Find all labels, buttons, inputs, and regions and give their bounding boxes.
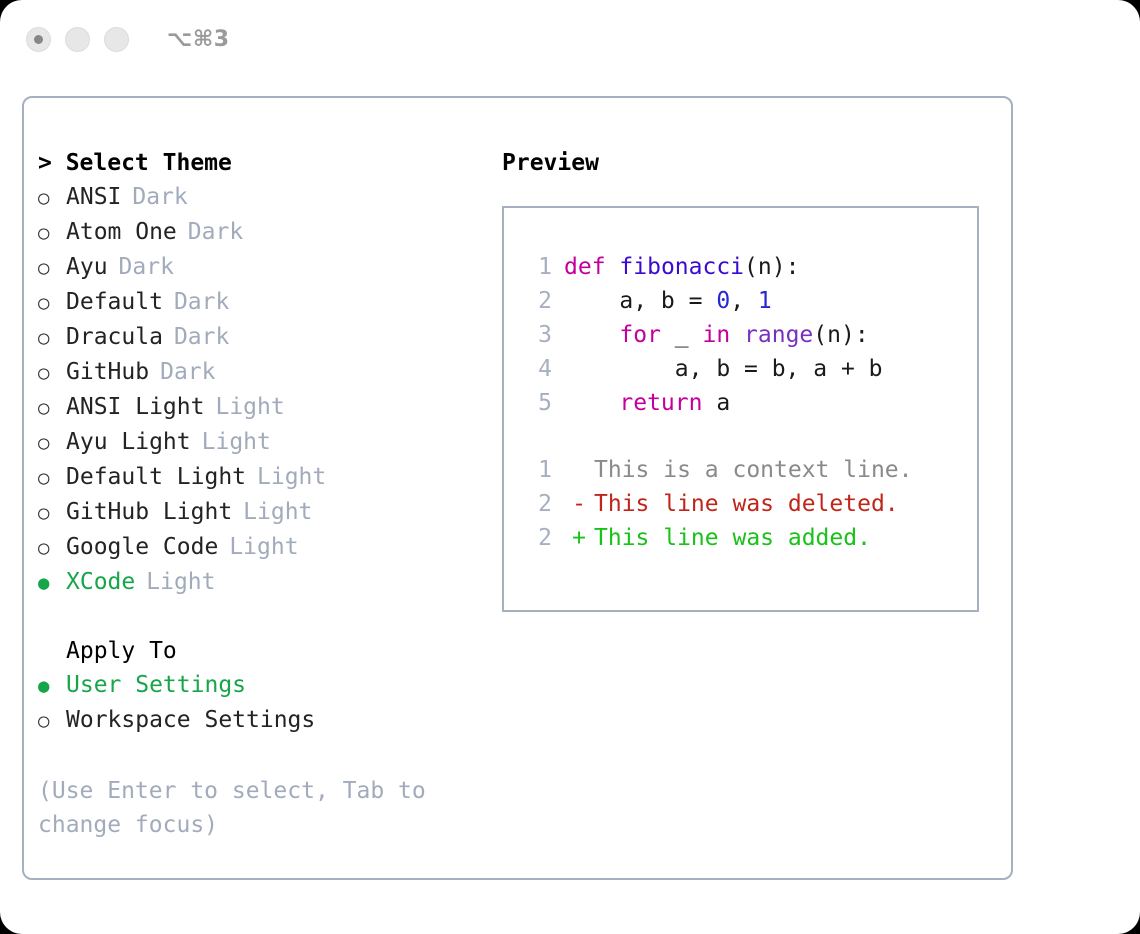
theme-selector-column: > Select Theme ○ANSIDark○Atom OneDark○Ay… [38, 146, 488, 842]
code-token: a, b = b, a + b [564, 356, 883, 382]
radio-unselected-icon: ○ [38, 181, 66, 215]
theme-variant-tag: Light [218, 530, 298, 564]
apply-option-user-settings[interactable]: ●User Settings [38, 668, 488, 703]
code-token: 1 [758, 288, 772, 314]
code-token: ( [813, 322, 827, 348]
radio-unselected-icon: ○ [38, 496, 66, 530]
diff-line-del: 2-This line was deleted. [522, 487, 913, 521]
radio-unselected-icon: ○ [38, 286, 66, 320]
code-token: ): [772, 254, 800, 280]
diff-sign [564, 453, 594, 487]
code-token [564, 390, 619, 416]
list-spacer [38, 600, 488, 634]
radio-unselected-icon: ○ [38, 426, 66, 460]
code-token [564, 322, 619, 348]
diff-line-number: 2 [522, 487, 564, 521]
diff-line-number: 2 [522, 521, 564, 555]
code-token: ( [744, 254, 758, 280]
theme-option-atom-one[interactable]: ○Atom OneDark [38, 215, 488, 250]
theme-option-label: Atom One [66, 215, 177, 249]
theme-option-ayu[interactable]: ○AyuDark [38, 250, 488, 285]
code-token: in [702, 322, 730, 348]
apply-option-label: User Settings [66, 668, 246, 702]
code-token: n [827, 322, 841, 348]
code-line: 2 a, b = 0, 1 [522, 284, 883, 318]
theme-variant-tag: Light [246, 460, 326, 494]
code-token: range [744, 322, 813, 348]
preview-column: Preview 1def fibonacci(n):2 a, b = 0, 13… [502, 146, 997, 612]
code-line: 3 for _ in range(n): [522, 318, 883, 352]
code-token [606, 254, 620, 280]
code-token: for [619, 322, 661, 348]
theme-option-default-light[interactable]: ○Default LightLight [38, 460, 488, 495]
theme-option-label: Default Light [66, 460, 246, 494]
apply-to-heading: Apply To [38, 634, 488, 668]
code-line-number: 4 [522, 352, 564, 386]
theme-variant-tag: Light [204, 390, 284, 424]
apply-to-list[interactable]: ●User Settings○Workspace Settings [38, 668, 488, 738]
code-line: 1def fibonacci(n): [522, 250, 883, 284]
select-theme-heading: > Select Theme [38, 146, 488, 180]
diff-line-number: 1 [522, 453, 564, 487]
theme-option-default[interactable]: ○DefaultDark [38, 285, 488, 320]
radio-selected-icon: ● [38, 566, 66, 600]
theme-variant-tag: Dark [163, 320, 229, 354]
theme-option-xcode[interactable]: ●XCodeLight [38, 565, 488, 600]
theme-option-label: GitHub Light [66, 495, 232, 529]
window-controls [26, 27, 129, 52]
code-line-text: for _ in range(n): [564, 318, 869, 352]
code-line-text: a, b = b, a + b [564, 352, 883, 386]
radio-unselected-icon: ○ [38, 356, 66, 390]
code-line-number: 3 [522, 318, 564, 352]
window-dot-inner [34, 35, 43, 44]
code-token: 0 [716, 288, 730, 314]
title-bar: ⌥⌘3 [0, 0, 1140, 78]
diff-sign: - [564, 487, 594, 521]
theme-variant-tag: Light [191, 425, 271, 459]
theme-list[interactable]: ○ANSIDark○Atom OneDark○AyuDark○DefaultDa… [38, 180, 488, 600]
code-token: a, b = [564, 288, 716, 314]
keyboard-shortcut-label: ⌥⌘3 [167, 27, 230, 52]
theme-option-ayu-light[interactable]: ○Ayu LightLight [38, 425, 488, 460]
app-window: ⌥⌘3 > Select Theme ○ANSIDark○Atom OneDar… [0, 0, 1140, 934]
code-token: n [758, 254, 772, 280]
radio-unselected-icon: ○ [38, 704, 66, 738]
radio-unselected-icon: ○ [38, 391, 66, 425]
theme-option-label: Dracula [66, 320, 163, 354]
diff-sample: 1 This is a context line.2-This line was… [522, 453, 913, 555]
diff-line-text: This line was added. [594, 521, 871, 555]
theme-variant-tag: Dark [177, 215, 243, 249]
apply-option-workspace-settings[interactable]: ○Workspace Settings [38, 703, 488, 738]
theme-option-label: Ayu Light [66, 425, 191, 459]
diff-line-ctx: 1 This is a context line. [522, 453, 913, 487]
theme-option-label: Google Code [66, 530, 218, 564]
theme-option-label: GitHub [66, 355, 149, 389]
theme-variant-tag: Dark [163, 285, 229, 319]
preview-heading: Preview [502, 146, 997, 180]
code-token: , [730, 288, 758, 314]
code-line: 4 a, b = b, a + b [522, 352, 883, 386]
radio-unselected-icon: ○ [38, 321, 66, 355]
radio-selected-icon: ● [38, 669, 66, 703]
code-token [730, 322, 744, 348]
code-line-number: 2 [522, 284, 564, 318]
theme-variant-tag: Light [232, 495, 312, 529]
radio-unselected-icon: ○ [38, 461, 66, 495]
code-line-text: return a [564, 386, 730, 420]
diff-line-text: This line was deleted. [594, 487, 899, 521]
code-line-text: a, b = 0, 1 [564, 284, 772, 318]
theme-variant-tag: Dark [149, 355, 215, 389]
theme-option-google-code[interactable]: ○Google CodeLight [38, 530, 488, 565]
preview-box: 1def fibonacci(n):2 a, b = 0, 13 for _ i… [502, 206, 979, 612]
radio-unselected-icon: ○ [38, 216, 66, 250]
code-token: return [619, 390, 702, 416]
code-sample: 1def fibonacci(n):2 a, b = 0, 13 for _ i… [522, 250, 883, 420]
theme-option-label: ANSI [66, 180, 121, 214]
code-line-number: 1 [522, 250, 564, 284]
window-dot-second[interactable] [65, 27, 90, 52]
code-line: 5 return a [522, 386, 883, 420]
theme-option-label: XCode [66, 565, 135, 599]
radio-unselected-icon: ○ [38, 531, 66, 565]
theme-option-dracula[interactable]: ○DraculaDark [38, 320, 488, 355]
theme-option-label: ANSI Light [66, 390, 204, 424]
help-hint-text: (Use Enter to select, Tab to change focu… [38, 774, 458, 842]
code-token: fibonacci [619, 254, 744, 280]
window-dot-third[interactable] [104, 27, 129, 52]
theme-option-ansi[interactable]: ○ANSIDark [38, 180, 488, 215]
radio-unselected-icon: ○ [38, 251, 66, 285]
theme-option-label: Ayu [66, 250, 108, 284]
theme-variant-tag: Light [135, 565, 215, 599]
theme-option-ansi-light[interactable]: ○ANSI LightLight [38, 390, 488, 425]
apply-option-label: Workspace Settings [66, 703, 315, 737]
main-panel: > Select Theme ○ANSIDark○Atom OneDark○Ay… [22, 96, 1013, 880]
code-token: def [564, 254, 606, 280]
window-dot-active[interactable] [26, 27, 51, 52]
code-line-text: def fibonacci(n): [564, 250, 799, 284]
code-token: a [702, 390, 730, 416]
theme-variant-tag: Dark [121, 180, 187, 214]
diff-sign: + [564, 521, 594, 555]
theme-option-github-light[interactable]: ○GitHub LightLight [38, 495, 488, 530]
code-token: _ [661, 322, 703, 348]
theme-option-github[interactable]: ○GitHubDark [38, 355, 488, 390]
code-token: ): [841, 322, 869, 348]
code-line-number: 5 [522, 386, 564, 420]
theme-variant-tag: Dark [108, 250, 174, 284]
theme-option-label: Default [66, 285, 163, 319]
diff-line-text: This is a context line. [594, 453, 913, 487]
diff-line-add: 2+This line was added. [522, 521, 913, 555]
